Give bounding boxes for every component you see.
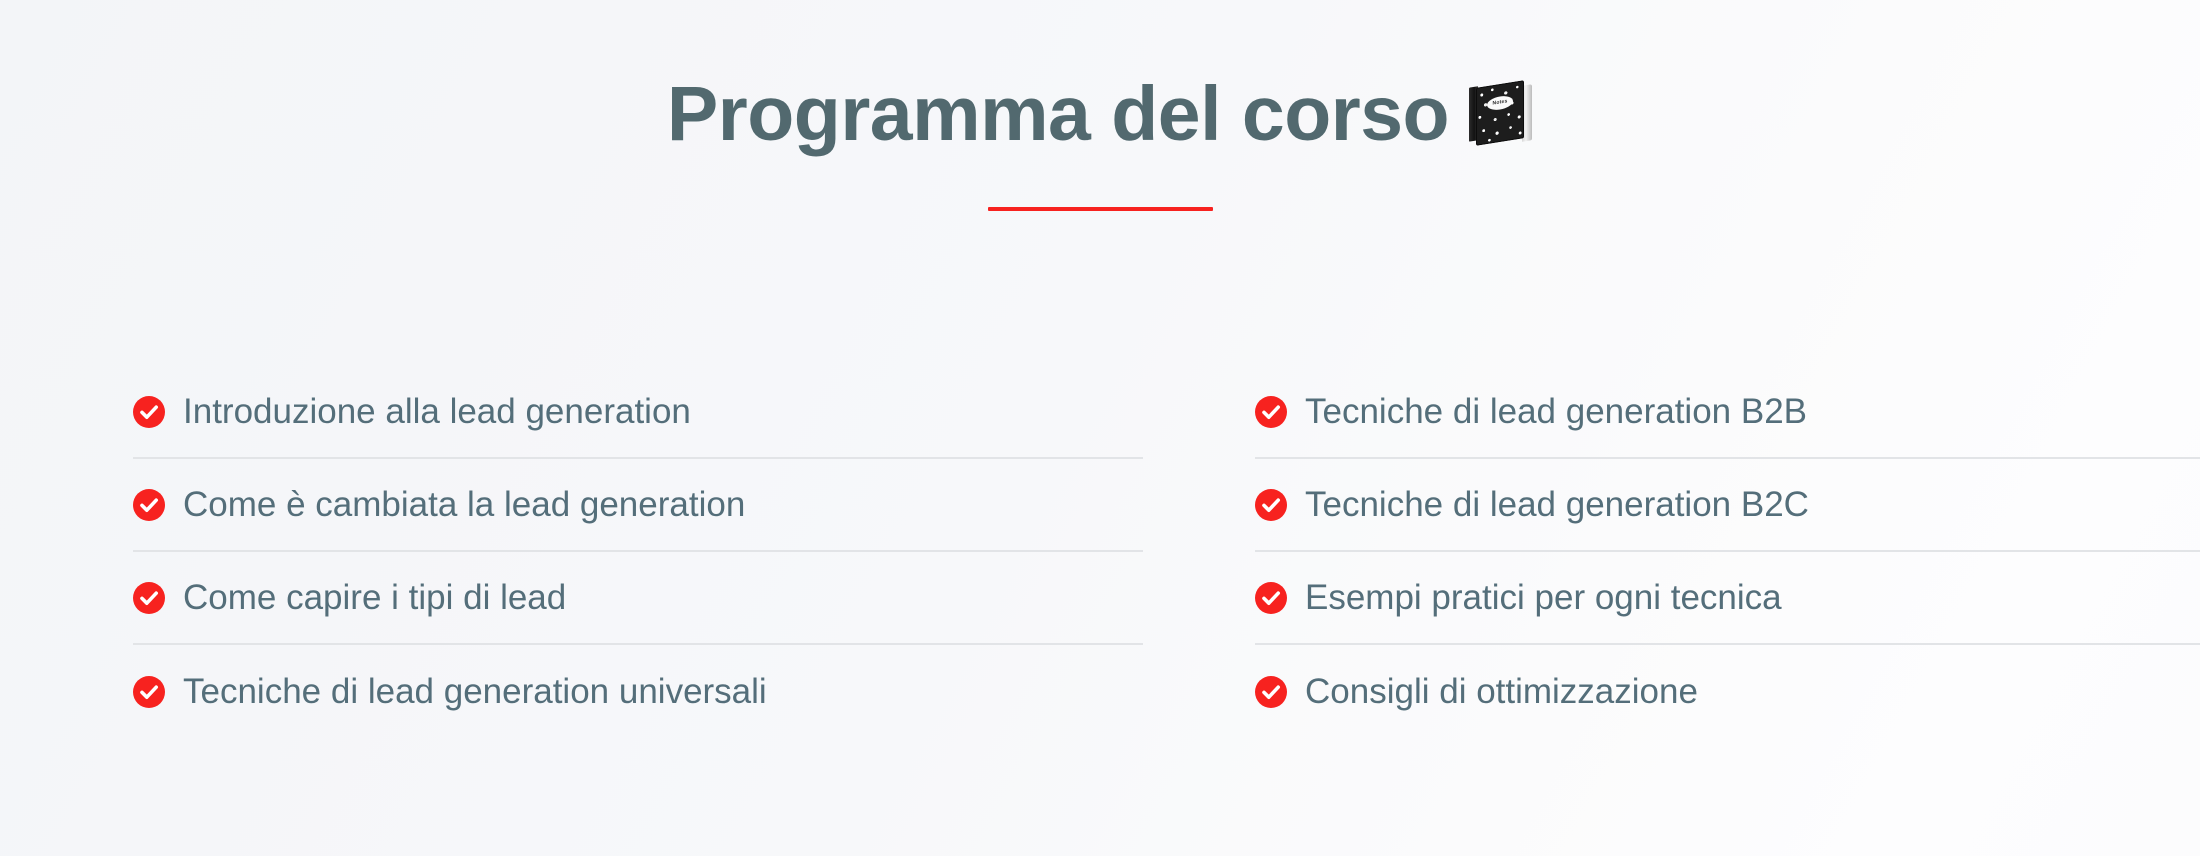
list-item[interactable]: Tecniche di lead generation B2C — [1255, 459, 2200, 552]
list-item-label: Come capire i tipi di lead — [183, 577, 566, 619]
list-item-label: Consigli di ottimizzazione — [1305, 671, 1698, 713]
list-item[interactable]: Esempi pratici per ogni tecnica — [1255, 552, 2200, 645]
check-circle-icon — [133, 676, 165, 708]
check-circle-icon — [133, 582, 165, 614]
course-program-section: Programma del corsoNotes Introduzione al… — [0, 0, 2200, 856]
list-item-label: Tecniche di lead generation universali — [183, 671, 767, 713]
list-item-label: Come è cambiata la lead generation — [183, 484, 745, 526]
check-circle-icon — [1255, 489, 1287, 521]
list-item-label: Esempi pratici per ogni tecnica — [1305, 577, 1782, 619]
curriculum-column-left: Introduzione alla lead generation Come è… — [0, 366, 1143, 738]
section-header: Programma del corsoNotes — [0, 0, 2200, 211]
page-title: Programma del corsoNotes — [0, 0, 2200, 155]
notebook-emoji: Notes — [1467, 80, 1533, 146]
list-item[interactable]: Come capire i tipi di lead — [133, 552, 1143, 645]
list-item[interactable]: Tecniche di lead generation universali — [133, 645, 1143, 738]
curriculum-list: Introduzione alla lead generation Come è… — [0, 366, 2200, 738]
notebook-label: Notes — [1487, 95, 1513, 112]
list-item[interactable]: Introduzione alla lead generation — [133, 366, 1143, 459]
curriculum-column-right: Tecniche di lead generation B2B Tecniche… — [1143, 366, 2200, 738]
notebook-cover: Notes — [1476, 80, 1524, 146]
title-divider — [988, 207, 1213, 211]
list-item-label: Introduzione alla lead generation — [183, 391, 691, 433]
list-item[interactable]: Tecniche di lead generation B2B — [1255, 366, 2200, 459]
list-item-label: Tecniche di lead generation B2C — [1305, 484, 1809, 526]
check-circle-icon — [133, 489, 165, 521]
list-item[interactable]: Come è cambiata la lead generation — [133, 459, 1143, 552]
list-item[interactable]: Consigli di ottimizzazione — [1255, 645, 2200, 738]
list-item-label: Tecniche di lead generation B2B — [1305, 391, 1807, 433]
check-circle-icon — [133, 396, 165, 428]
page-title-text: Programma del corso — [667, 71, 1449, 157]
check-circle-icon — [1255, 676, 1287, 708]
check-circle-icon — [1255, 582, 1287, 614]
check-circle-icon — [1255, 396, 1287, 428]
